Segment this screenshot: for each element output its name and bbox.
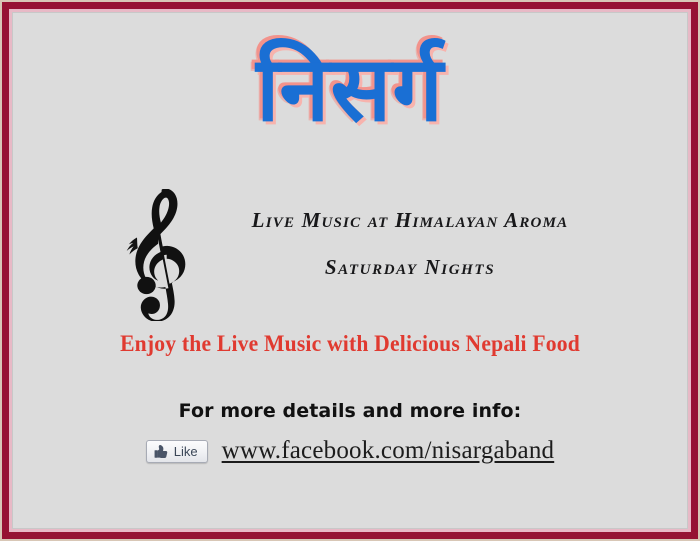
facebook-like-label: Like bbox=[174, 445, 198, 458]
tagline-line-1: Live Music at Himalayan Aroma bbox=[163, 208, 657, 233]
poster-canvas: निसर्ग Live Music at Himalayan Aroma Sat… bbox=[0, 0, 700, 541]
band-logo: निसर्ग bbox=[13, 30, 687, 160]
tagline-line-2: Saturday Nights bbox=[163, 255, 657, 280]
details-heading: For more details and more info: bbox=[13, 400, 687, 422]
band-logo-text: निसर्ग bbox=[256, 30, 444, 150]
facebook-row: Like www.facebook.com/nisargaband bbox=[13, 437, 687, 465]
facebook-url-link[interactable]: www.facebook.com/nisargaband bbox=[222, 437, 555, 465]
poster-content-area: निसर्ग Live Music at Himalayan Aroma Sat… bbox=[13, 13, 687, 528]
facebook-like-button[interactable]: Like bbox=[146, 440, 208, 463]
thumbs-up-icon bbox=[154, 444, 169, 459]
promo-line: Enjoy the Live Music with Delicious Nepa… bbox=[33, 331, 667, 357]
tagline-block: Live Music at Himalayan Aroma Saturday N… bbox=[163, 208, 657, 280]
